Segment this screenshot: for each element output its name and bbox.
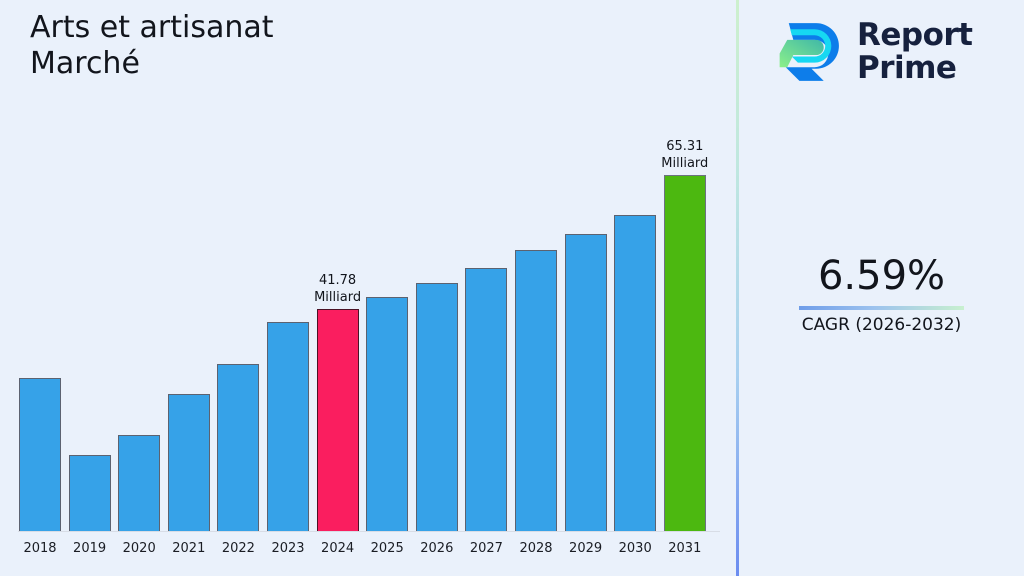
bar-2023[interactable] (267, 322, 309, 531)
x-tick-label-2019: 2019 (63, 541, 117, 556)
bar-2018[interactable] (19, 378, 61, 531)
x-tick-label-2018: 2018 (13, 541, 67, 556)
x-tick-label-2020: 2020 (112, 541, 166, 556)
x-tick-label-2023: 2023 (261, 541, 315, 556)
report-prime-logo-icon (769, 14, 845, 90)
cagr-divider-rule (799, 306, 964, 310)
cagr-value: 6.59% (739, 252, 1024, 300)
bar-2030[interactable] (614, 215, 656, 531)
brand-name: Report Prime (857, 19, 973, 85)
x-tick-label-2029: 2029 (559, 541, 613, 556)
x-tick-label-2022: 2022 (211, 541, 265, 556)
x-tick-label-2027: 2027 (459, 541, 513, 556)
bar-2025[interactable] (366, 297, 408, 531)
bar-2024[interactable] (317, 309, 359, 531)
bar-2019[interactable] (69, 455, 111, 531)
bar-chart-plot: 201820192020202120222023202441.78 Millia… (0, 0, 737, 576)
bar-2020[interactable] (118, 435, 160, 531)
x-tick-label-2028: 2028 (509, 541, 563, 556)
x-tick-label-2024: 2024 (311, 541, 365, 556)
x-tick-label-2031: 2031 (658, 541, 712, 556)
bar-2029[interactable] (565, 234, 607, 531)
brand-logo: Report Prime (769, 14, 973, 90)
summary-panel: Report Prime 6.59% CAGR (2026-2032) (739, 0, 1024, 576)
cagr-caption: CAGR (2026-2032) (739, 314, 1024, 336)
x-tick-label-2021: 2021 (162, 541, 216, 556)
chart-panel: Arts et artisanat Marché 201820192020202… (0, 0, 737, 576)
bar-2021[interactable] (168, 394, 210, 531)
bar-value-label-2031: 65.31 Milliard (640, 138, 730, 172)
x-axis-line (18, 531, 720, 532)
x-tick-label-2025: 2025 (360, 541, 414, 556)
x-tick-label-2026: 2026 (410, 541, 464, 556)
cagr-block: 6.59% CAGR (2026-2032) (739, 252, 1024, 336)
bar-2031[interactable] (664, 175, 706, 531)
chart-infographic: Arts et artisanat Marché 201820192020202… (0, 0, 1024, 576)
bar-2027[interactable] (465, 268, 507, 531)
x-tick-label-2030: 2030 (608, 541, 662, 556)
bar-2028[interactable] (515, 250, 557, 531)
bar-2022[interactable] (217, 364, 259, 531)
bar-2026[interactable] (416, 283, 458, 531)
